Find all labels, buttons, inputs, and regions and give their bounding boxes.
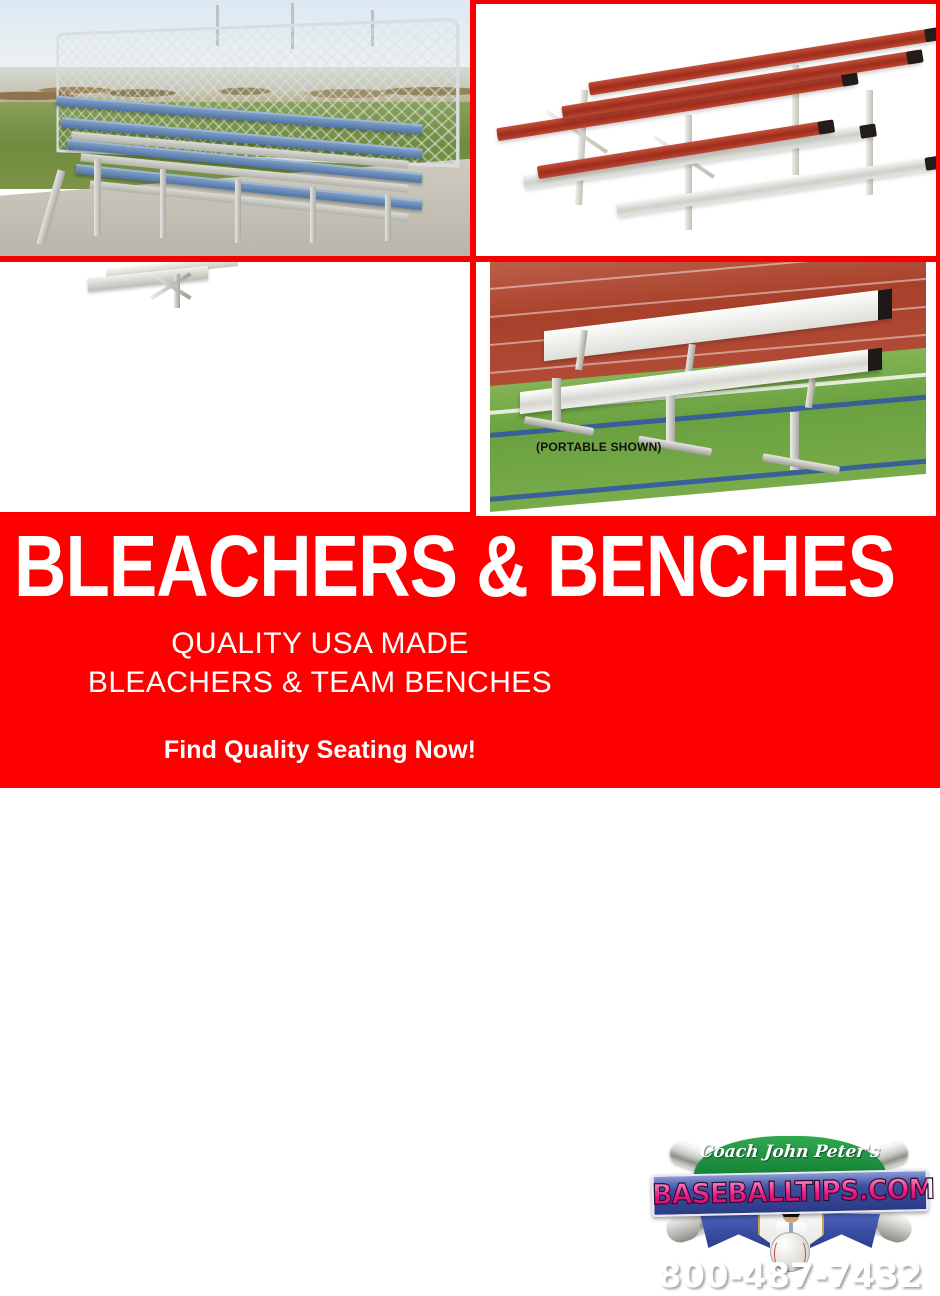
page-title: BLEACHERS & BENCHES [14,522,702,609]
border-top-right [476,0,940,4]
support-leg [310,187,316,243]
frame-post [685,115,692,230]
support-leg [160,169,166,238]
subtitle-line-2: BLEACHERS & TEAM BENCHES [0,663,640,702]
end-cap [859,124,877,139]
support-leg [235,179,241,243]
logo-script-text: Coach John Peter's [693,1142,887,1162]
end-cap [878,289,892,321]
end-cap [905,49,923,64]
call-to-action-text: Find Quality Seating Now! [0,736,640,765]
sub-copy-block: QUALITY USA MADE BLEACHERS & TEAM BENCHE… [0,624,640,765]
divider-vertical-bottom [470,262,476,516]
border-right-top [936,0,940,256]
logo-brand-text: BASEBALLTIPS.COM [652,1172,929,1213]
end-cap [818,119,836,134]
photo-portable-team-bench: (PORTABLE SHOWN) [476,256,940,516]
border-right-bottom [936,262,940,516]
promotional-poster: (PORTABLE SHOWN) BLEACHERS & BENCHES QUA… [0,0,940,788]
bench-photo-inner: (PORTABLE SHOWN) [490,260,926,512]
baseballtips-logo[interactable]: Coach John Peter's BASEBALLTIPS.COM [648,1128,932,1258]
bleacher-fragment [88,262,238,314]
bench-leg [552,378,561,426]
support-leg [385,195,391,241]
divider-vertical-top [470,0,476,256]
phone-number[interactable]: 800-487-7432 [648,1256,932,1296]
photo-grid: (PORTABLE SHOWN) [0,0,940,516]
red-banner: BLEACHERS & BENCHES QUALITY USA MADE BLE… [0,516,940,788]
subtitle-line-1: QUALITY USA MADE [0,624,640,663]
support-leg [94,159,101,236]
end-cap [868,348,882,372]
photo-plank-end-cap-closeup [0,262,470,516]
portable-shown-label: (PORTABLE SHOWN) [536,440,662,454]
photo-red-plank-bleachers [476,0,940,250]
photo-blue-bleachers-outdoor [0,0,470,256]
